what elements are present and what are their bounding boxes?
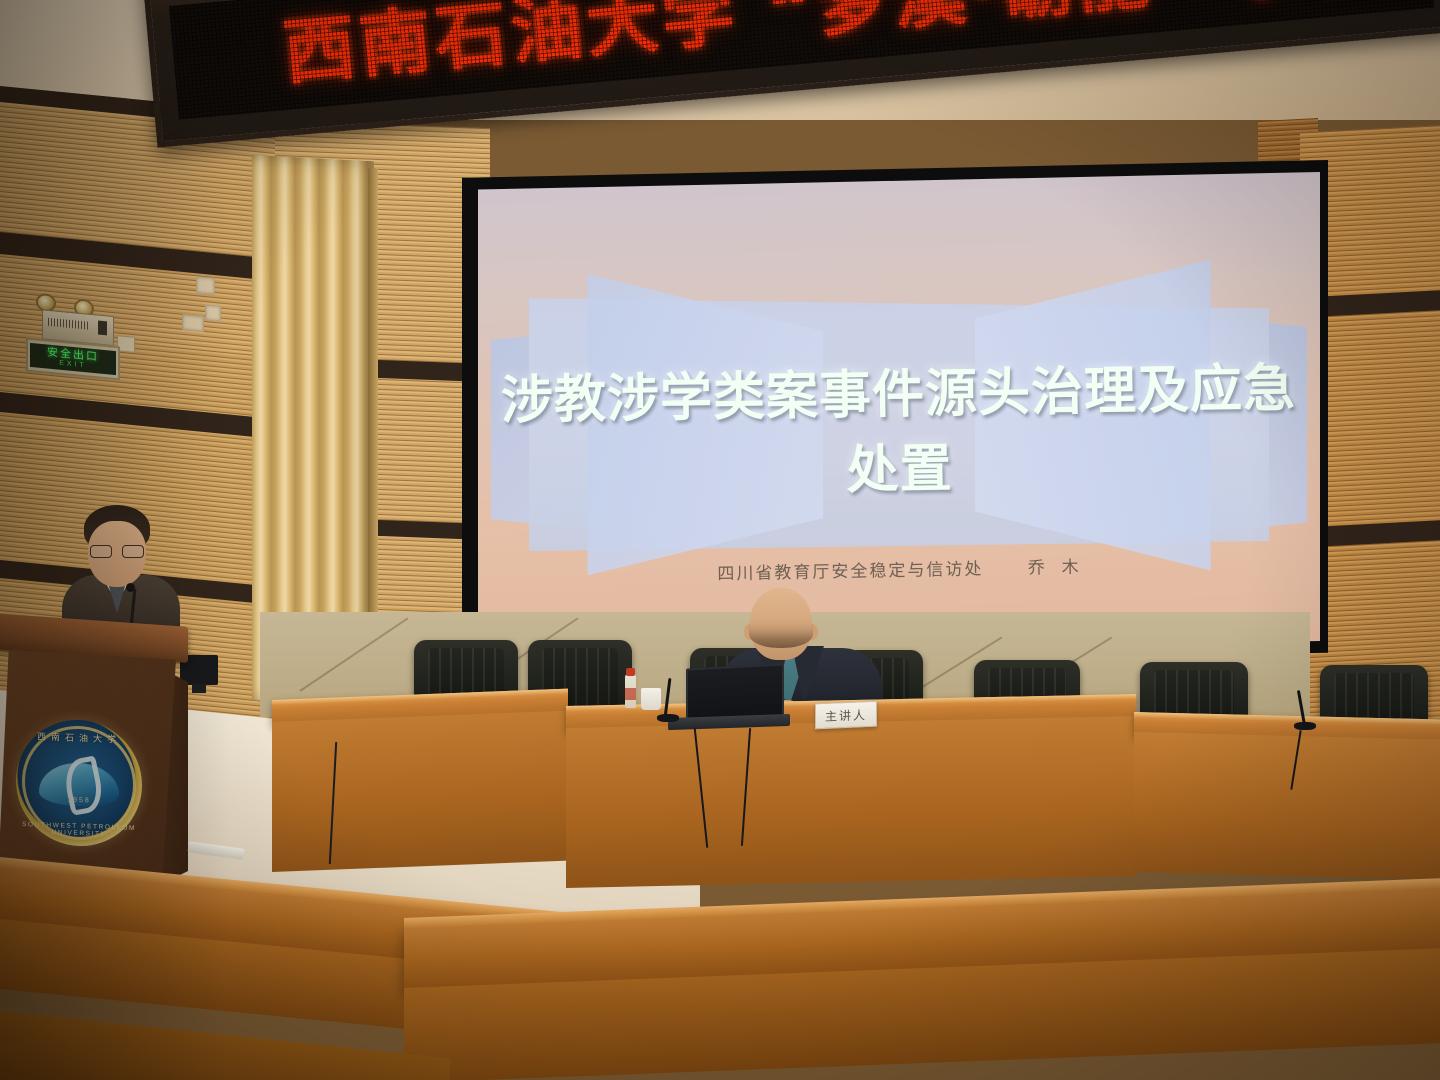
speaker-placard: 主讲人 [815,701,877,730]
conference-table-right-front [1134,732,1440,880]
emergency-light-test-button[interactable] [98,321,107,336]
water-bottle-cap[interactable] [626,668,635,676]
speaker-glasses [90,545,144,558]
conference-table-left-front [272,711,568,872]
water-bottle-label [625,688,636,700]
exit-sign-face: 安全出口 EXIT [30,343,116,375]
slide-title: 涉教涉学类案事件源头治理及应急处置 [478,345,1320,508]
speaker-glasses-lens-right [122,545,144,558]
desk-microphone-base[interactable] [1294,722,1316,730]
paper-cup[interactable] [641,688,661,710]
wall-outlet-side[interactable] [205,304,221,322]
presenter-hairline [749,618,813,648]
conference-table-center-front [566,716,1136,888]
emergency-light [32,292,110,329]
wall-outlet-upper[interactable] [196,276,215,295]
wall-outlet-lower[interactable] [182,314,204,332]
podium-front-panel: 西南石油大学 1958 SOUTHWEST PETROLEUM UNIVERSI… [0,650,176,890]
desk-microphone-base[interactable] [657,714,679,722]
podium-microphone-head[interactable] [126,583,135,592]
speaker-glasses-lens-left [90,545,112,558]
lecture-hall-photo: 安全出口 EXIT 涉教涉学类案事件源头治理及应急处置 四川省教育厅安全稳定与信… [0,0,1440,1080]
projection-screen: 涉教涉学类案事件源头治理及应急处置 四川省教育厅安全稳定与信访处 乔 木 [478,172,1320,658]
speaker-placard-label: 主讲人 [825,706,867,725]
emergency-light-grill [48,318,88,330]
confidence-monitor-stand [192,684,206,693]
exit-sign-english-label: EXIT [59,360,87,370]
university-logo-english-name: SOUTHWEST PETROLEUM UNIVERSITY [16,821,142,839]
university-logo: 西南石油大学 1958 SOUTHWEST PETROLEUM UNIVERSI… [16,718,142,848]
